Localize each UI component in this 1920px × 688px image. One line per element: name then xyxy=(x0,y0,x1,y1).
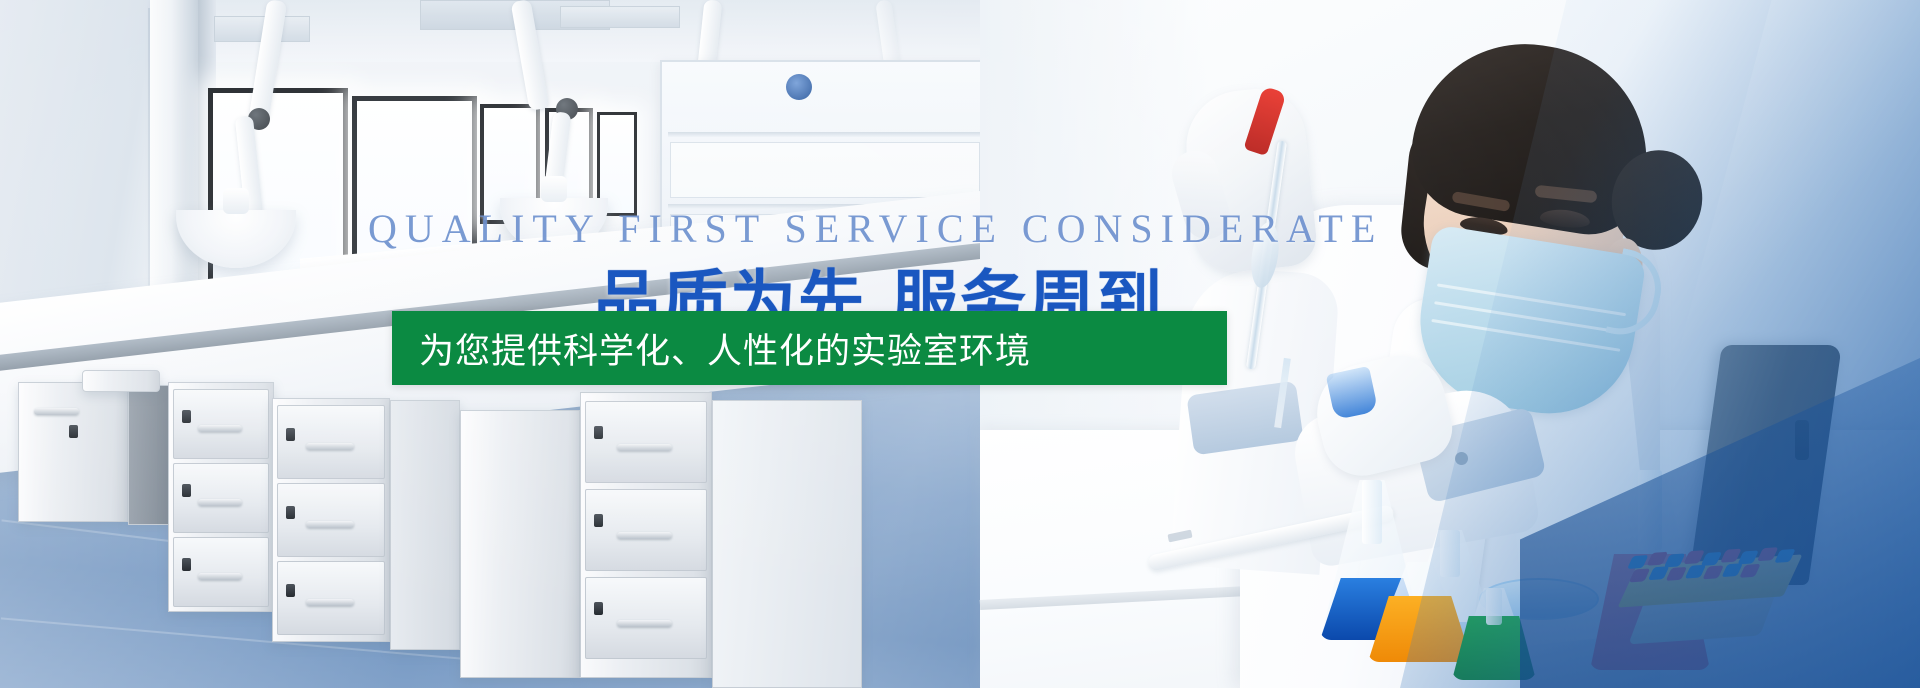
drawer-handle[interactable] xyxy=(617,532,672,539)
cabinet-lock-icon xyxy=(594,514,603,527)
cabinet-lock-icon xyxy=(69,425,78,438)
hood-badge-icon xyxy=(786,74,812,100)
headline-english: QUALITY FIRST SERVICE CONSIDERATE xyxy=(368,205,1383,252)
drawer-handle[interactable] xyxy=(306,443,355,450)
pull-out-tray xyxy=(82,370,160,392)
cabinet-side-panel xyxy=(390,400,460,650)
drawer-cabinet xyxy=(712,400,862,688)
drawer xyxy=(277,405,385,479)
drawer-handle[interactable] xyxy=(198,499,241,506)
cabinet-lock-icon xyxy=(286,506,295,519)
drawer xyxy=(173,537,269,607)
drawer xyxy=(585,489,707,571)
drawer-handle[interactable] xyxy=(306,521,355,528)
subtitle-banner-bar: 为您提供科学化、人性化的实验室环境 xyxy=(392,311,1227,385)
drawer-cabinet xyxy=(460,410,580,678)
drawer xyxy=(173,463,269,533)
cabinet-lock-icon xyxy=(182,558,191,571)
drawer xyxy=(277,561,385,635)
drawer xyxy=(585,401,707,483)
cabinet-lock-icon xyxy=(594,602,603,615)
cabinet-handle xyxy=(34,408,79,415)
cabinet-lock-icon xyxy=(182,410,191,423)
cabinet-lock-icon xyxy=(182,484,191,497)
drawer xyxy=(173,389,269,459)
drawer-cabinet xyxy=(272,398,390,642)
cabinet-side-panel xyxy=(128,385,170,525)
drawer-handle[interactable] xyxy=(306,599,355,606)
drawer-handle[interactable] xyxy=(617,444,672,451)
drawer-cabinet xyxy=(580,392,712,678)
subtitle-text: 为您提供科学化、人性化的实验室环境 xyxy=(419,323,1031,374)
cabinet-lock-icon xyxy=(286,428,295,441)
lab-promo-banner: QUALITY FIRST SERVICE CONSIDERATE 品质为先服务… xyxy=(0,0,1920,688)
drawer xyxy=(277,483,385,557)
drawer-handle[interactable] xyxy=(198,573,241,580)
cabinet-lock-icon xyxy=(286,584,295,597)
drawer-cabinet xyxy=(18,382,128,522)
ceiling-vent-icon xyxy=(560,6,680,28)
drawer xyxy=(585,577,707,659)
drawer-handle[interactable] xyxy=(617,620,672,627)
cabinet-lock-icon xyxy=(594,426,603,439)
drawer-handle[interactable] xyxy=(198,425,241,432)
drawer-cabinet xyxy=(168,382,274,612)
